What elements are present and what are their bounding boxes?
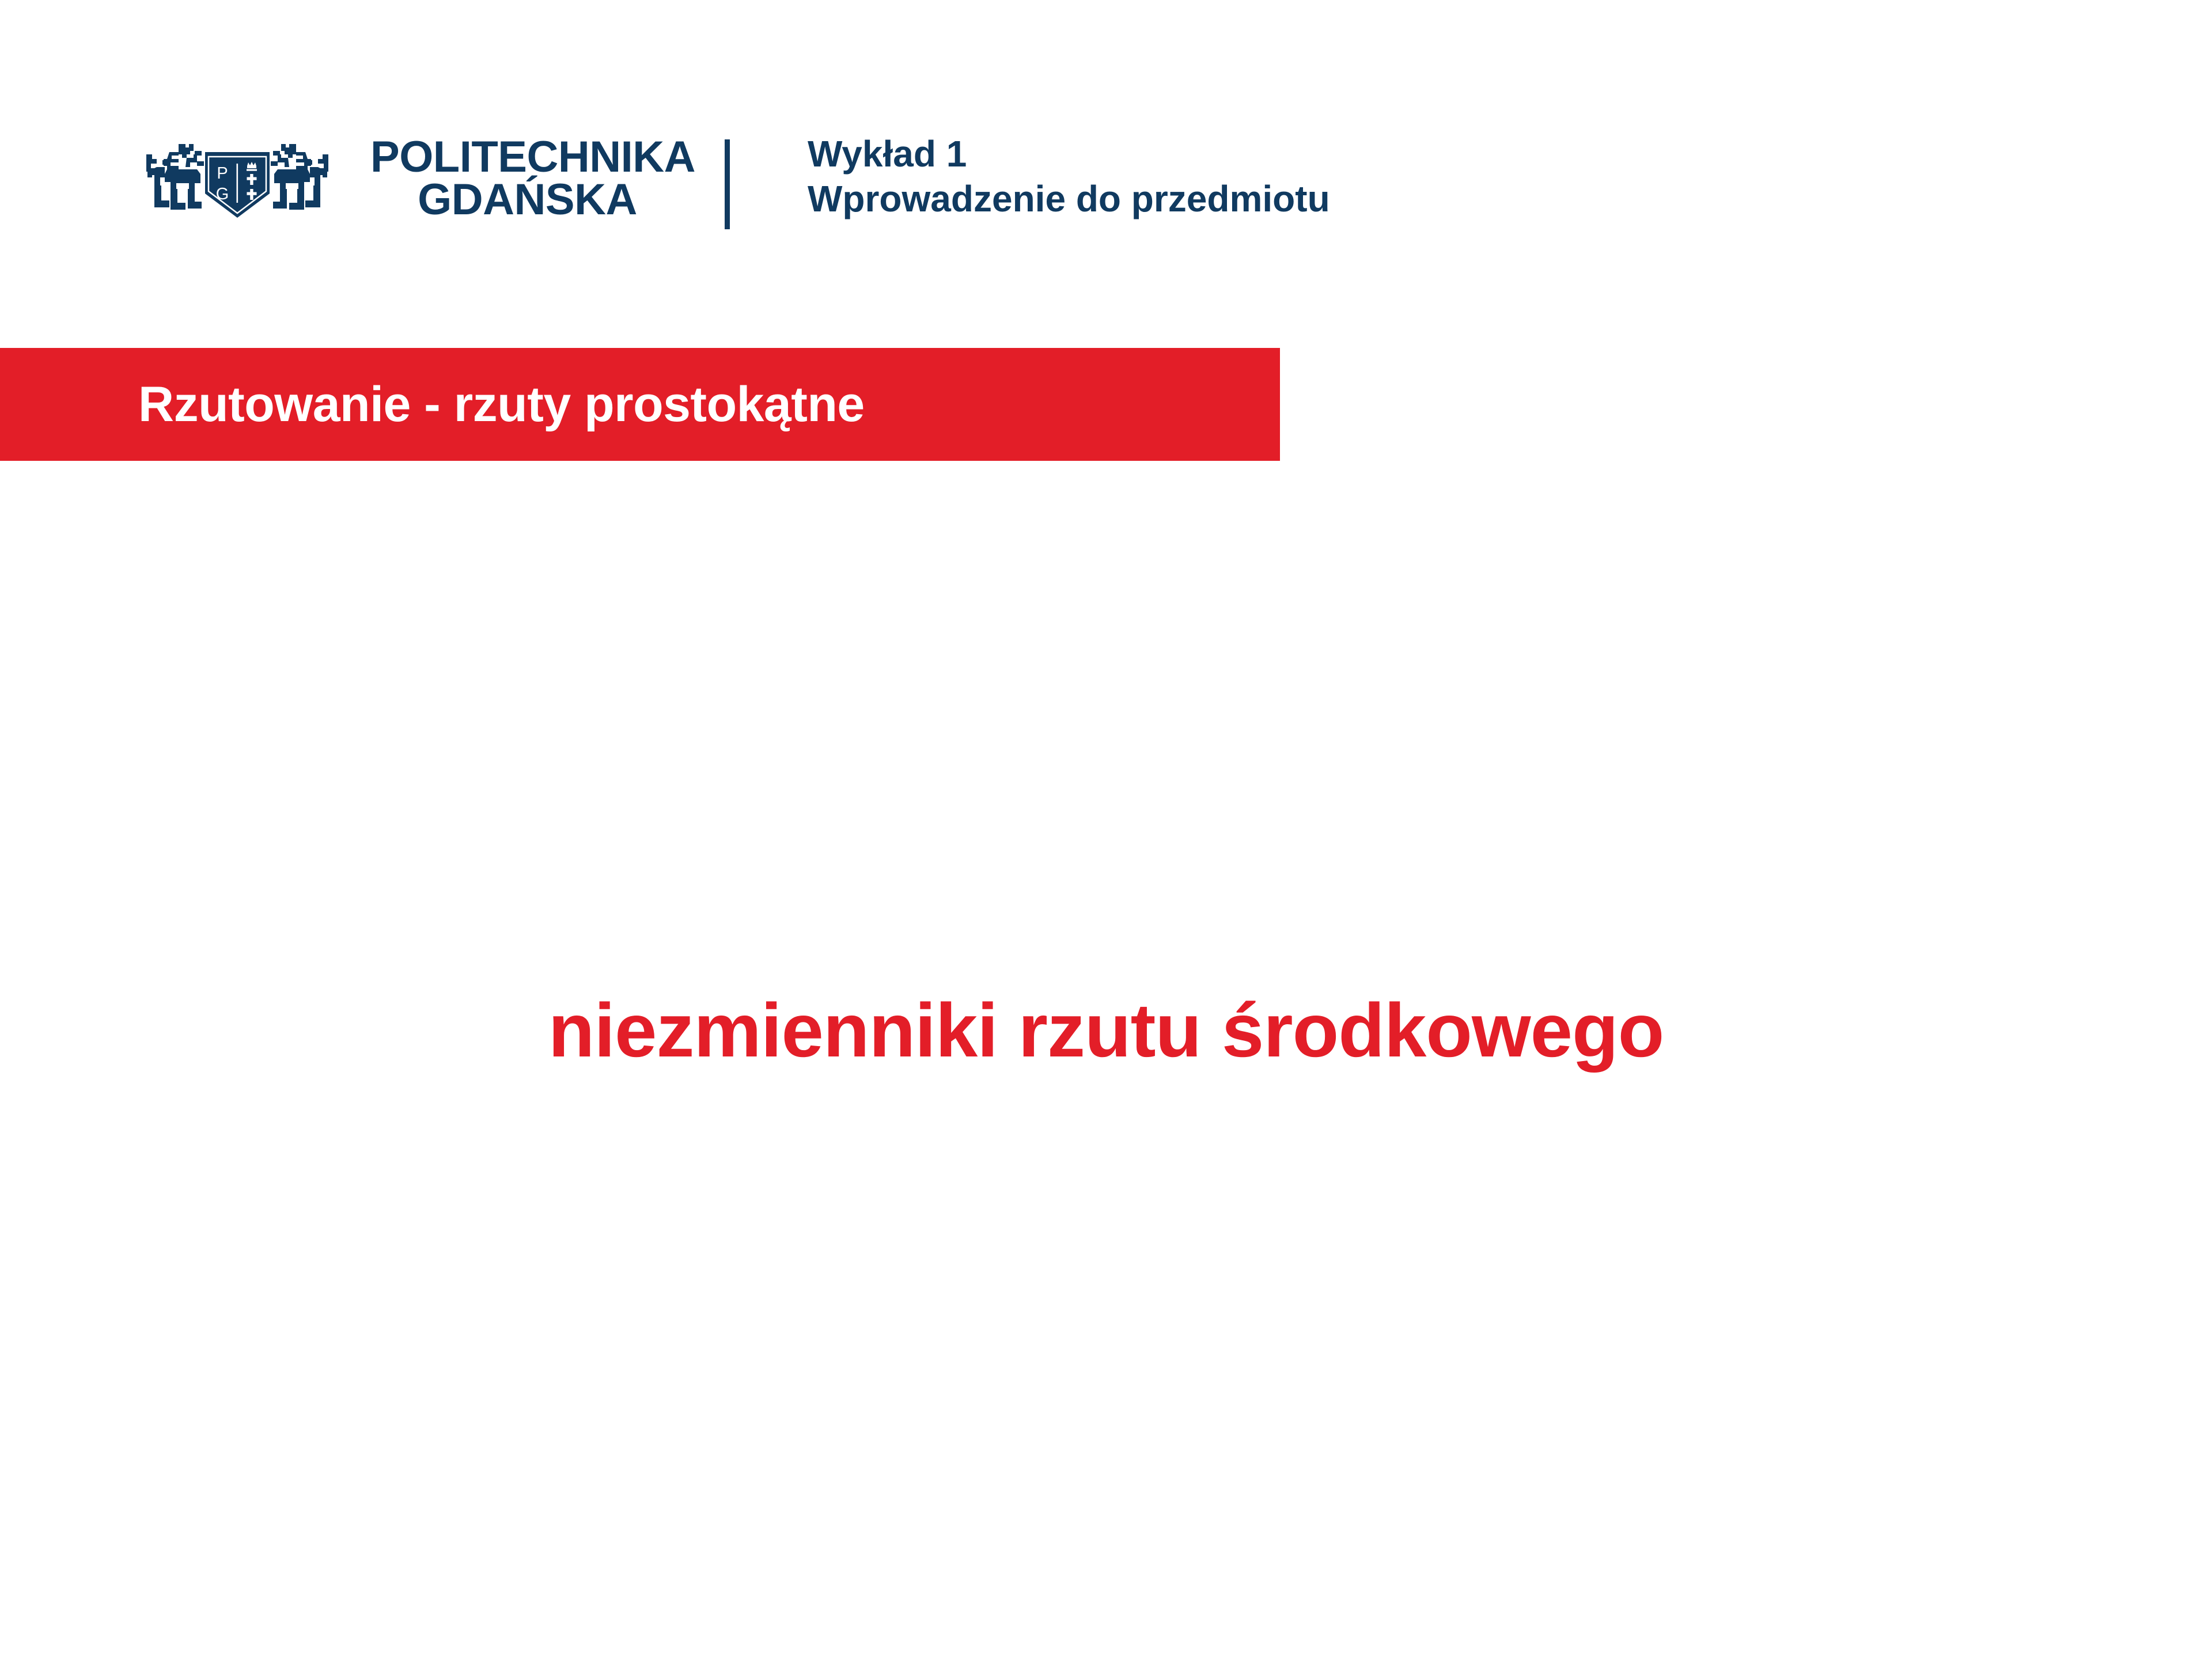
lecture-number: Wykład 1 — [808, 131, 1330, 176]
brand-header: P G POLITECHNIKA GDAŃSKA — [0, 0, 2212, 323]
svg-text:P: P — [217, 164, 228, 183]
lecture-subject: Wprowadzenie do przedmiotu — [808, 176, 1330, 221]
svg-text:G: G — [216, 185, 229, 203]
university-wordmark: POLITECHNIKA GDAŃSKA — [370, 136, 684, 222]
section-title-text: Rzutowanie - rzuty prostokątne — [138, 380, 865, 429]
slide-canvas: P G POLITECHNIKA GDAŃSKA — [0, 0, 2212, 1659]
pg-coat-of-arms-logo-icon: P G — [137, 134, 338, 235]
header-divider-rule — [725, 139, 730, 229]
wordmark-line-gdanska: GDAŃSKA — [370, 179, 684, 221]
slide-content-area: niezmienniki rzutu środkowego — [0, 461, 2212, 1659]
lecture-heading: Wykład 1 Wprowadzenie do przedmiotu — [808, 131, 1330, 221]
headline-statement: niezmienniki rzutu środkowego — [0, 991, 2212, 1071]
content-placeholder-lower — [0, 1123, 2212, 1659]
content-placeholder-upper — [0, 461, 2212, 979]
wordmark-line-politechnika: POLITECHNIKA — [370, 136, 684, 179]
section-title-banner: Rzutowanie - rzuty prostokątne — [0, 348, 1280, 461]
